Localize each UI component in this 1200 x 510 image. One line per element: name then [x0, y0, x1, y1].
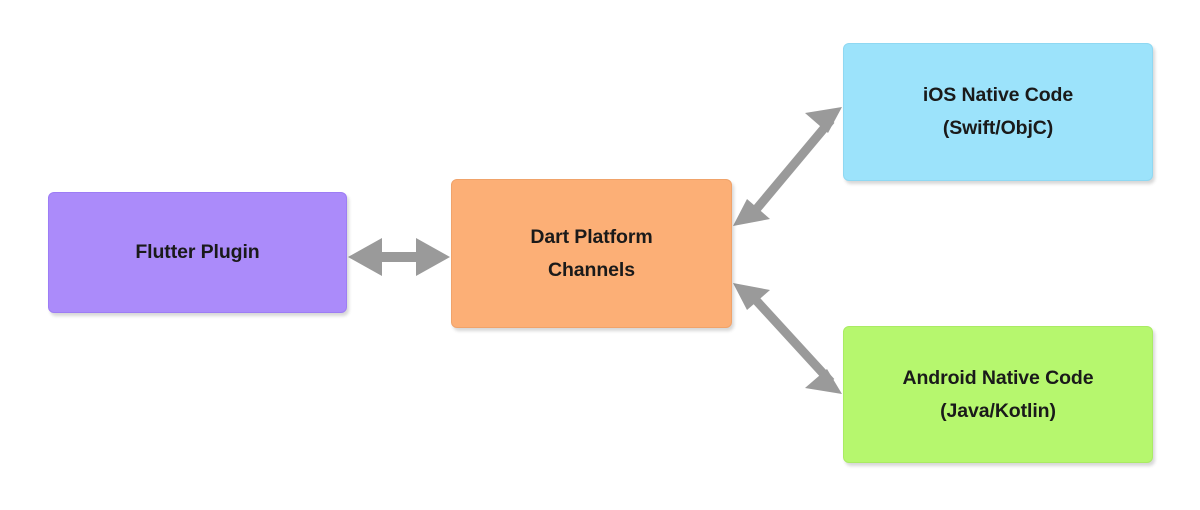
connector-channels-to-android-head-down — [805, 369, 842, 394]
connector-channels-to-android — [733, 283, 842, 394]
connector-channels-to-ios — [733, 107, 842, 226]
connector-channels-to-android-shaft — [754, 298, 831, 382]
node-android-native-code-label: Android Native Code (Java/Kotlin) — [895, 362, 1102, 428]
node-flutter-plugin-label: Flutter Plugin — [127, 236, 267, 269]
connector-plugin-to-channels — [348, 238, 450, 276]
connector-channels-to-ios-shaft — [754, 120, 831, 212]
diagram-canvas: Flutter Plugin Dart Platform Channels iO… — [0, 0, 1200, 510]
node-android-native-code[interactable]: Android Native Code (Java/Kotlin) — [843, 326, 1153, 463]
node-ios-native-code-label: iOS Native Code (Swift/ObjC) — [915, 79, 1081, 145]
connector-plugin-to-channels-shape — [348, 238, 450, 276]
node-flutter-plugin[interactable]: Flutter Plugin — [48, 192, 347, 313]
node-ios-native-code[interactable]: iOS Native Code (Swift/ObjC) — [843, 43, 1153, 181]
node-dart-platform-channels[interactable]: Dart Platform Channels — [451, 179, 732, 328]
node-dart-platform-channels-label: Dart Platform Channels — [522, 221, 660, 287]
